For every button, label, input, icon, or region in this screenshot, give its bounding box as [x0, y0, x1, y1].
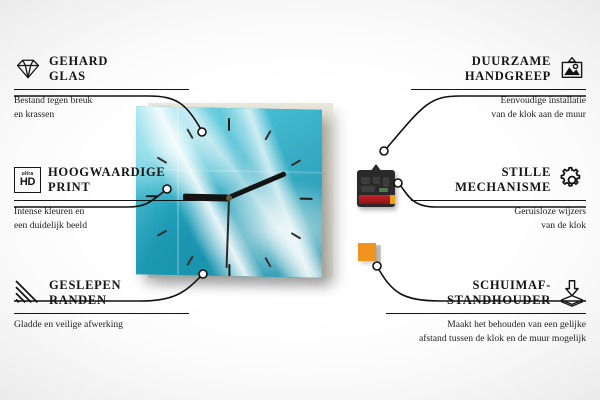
feature-description: Maakt het behouden van een gelijke afsta…	[386, 318, 586, 344]
feature-description: Eenvoudige installatie van de klok aan d…	[411, 94, 586, 120]
feature-description: Bestand tegen breuk en krassen	[14, 94, 189, 120]
feature-gehard-glas: GEHARD GLAS Bestand tegen breuk en krass…	[14, 52, 189, 121]
feature-description: Gladde en veilige afwerking	[14, 318, 189, 331]
feature-hoogwaardige-print: ultra HD HOOGWAARDIGE PRINT Intense kleu…	[14, 163, 199, 232]
feature-header: DUURZAME HANDGREEP	[411, 52, 586, 86]
foam-spacer-icon	[558, 279, 586, 307]
mechanism-detail	[361, 177, 370, 184]
feature-header: ultra HD HOOGWAARDIGE PRINT	[14, 163, 199, 197]
connector-endpoint-duurzame-handgreep	[380, 147, 388, 155]
feature-title: SCHUIMAF- STANDHOUDER	[447, 278, 551, 309]
ultra-hd-icon: ultra HD	[14, 167, 41, 193]
diamond-icon	[14, 55, 42, 83]
feature-title: STILLE MECHANISME	[455, 165, 551, 196]
feature-divider	[386, 313, 586, 314]
feature-header: SCHUIMAF- STANDHOUDER	[386, 276, 586, 310]
clock-tick	[228, 264, 230, 277]
gear-icon	[558, 166, 586, 194]
mechanism-battery-tip	[390, 195, 395, 204]
feature-description: Intense kleuren en een duidelijk beeld	[14, 205, 199, 231]
feature-divider	[14, 313, 189, 314]
feature-header: STILLE MECHANISME	[411, 163, 586, 197]
foam-spacer-pad	[358, 243, 376, 261]
mechanism-hanger-nub	[370, 164, 382, 172]
feature-divider	[411, 89, 586, 90]
feature-description: Geruisloze wijzers van de klok	[411, 205, 586, 231]
feature-divider	[411, 200, 586, 201]
feature-stille-mechanisme: STILLE MECHANISME Geruisloze wijzers van…	[411, 163, 586, 232]
feature-header: GESLEPEN RANDEN	[14, 276, 189, 310]
feature-schuimafstandhouder: SCHUIMAF- STANDHOUDER Maakt het behouden…	[386, 276, 586, 345]
feature-title: GESLEPEN RANDEN	[49, 278, 121, 309]
clock-center-cap	[226, 195, 232, 201]
feature-title: HOOGWAARDIGE PRINT	[48, 165, 165, 196]
feature-geslepen-randen: GESLEPEN RANDEN Gladde en veilige afwerk…	[14, 276, 189, 332]
mechanism-detail	[361, 186, 375, 192]
mechanism-detail	[379, 188, 388, 192]
feature-title: DUURZAME HANDGREEP	[465, 54, 551, 85]
mechanism-battery	[359, 195, 391, 204]
connector-endpoint-schuimafstandhouder	[373, 262, 381, 270]
mechanism-detail	[373, 177, 380, 184]
feature-divider	[14, 89, 189, 90]
ultra-hd-icon-big-label: HD	[20, 177, 35, 188]
beveled-edge-icon	[14, 279, 42, 307]
mechanism-detail	[383, 177, 389, 187]
foam-spacer-pad-side	[376, 245, 381, 263]
feature-header: GEHARD GLAS	[14, 52, 189, 86]
clock-mechanism	[357, 170, 395, 207]
infographic-canvas: GEHARD GLAS Bestand tegen breuk en krass…	[0, 0, 600, 400]
picture-frame-hanger-icon	[558, 55, 586, 83]
feature-divider	[14, 200, 199, 201]
connector-endpoint-stille-mechanisme	[394, 179, 402, 187]
feature-duurzame-handgreep: DUURZAME HANDGREEP Eenvoudige installati…	[411, 52, 586, 121]
feature-title: GEHARD GLAS	[49, 54, 108, 85]
